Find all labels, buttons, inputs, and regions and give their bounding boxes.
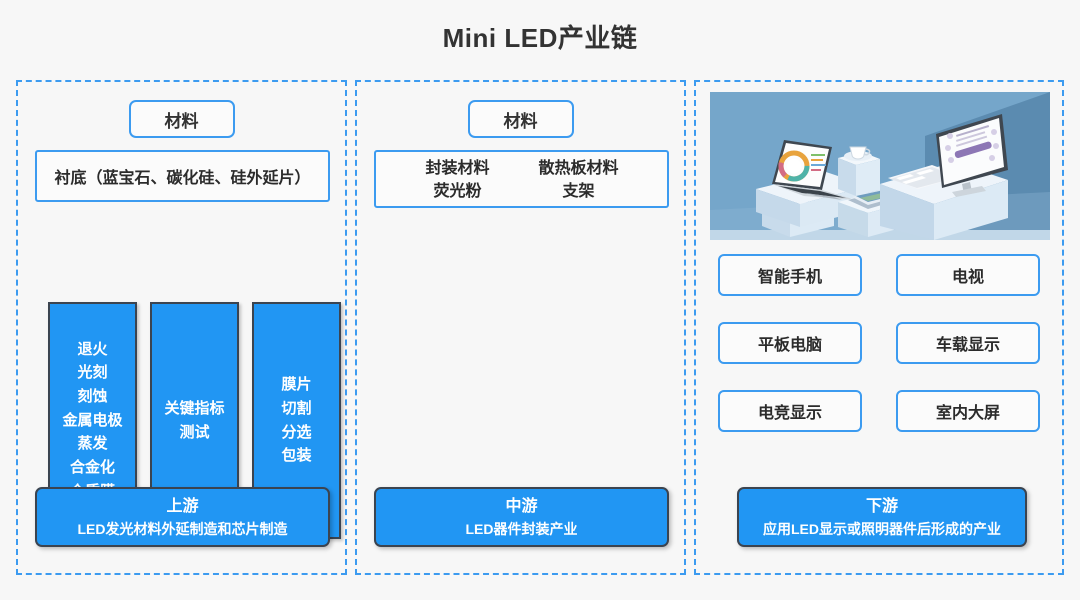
- stage-description: 应用LED显示或照明器件后形成的产业: [763, 519, 1001, 540]
- material-item: 支架: [520, 180, 638, 203]
- app-button-esports[interactable]: 电竞显示: [718, 390, 862, 432]
- app-button-automotive[interactable]: 车载显示: [896, 322, 1040, 364]
- stage-title: 上游: [166, 495, 198, 519]
- material-item: 散热板材料: [520, 157, 638, 180]
- stage-bar-upstream: 上游 LED发光材料外延制造和芯片制造: [35, 487, 330, 547]
- panel-upstream: 材料 衬底（蓝宝石、碳化硅、硅外延片） 退火 光刻 刻蚀 金属电极 蒸发 合金化…: [16, 80, 347, 575]
- material-row: 荧光粉 支架: [406, 180, 638, 203]
- page-title: Mini LED产业链: [0, 18, 1080, 55]
- app-button-tv[interactable]: 电视: [896, 254, 1040, 296]
- workspace-illustration: [710, 92, 1050, 240]
- material-header-midstream: 材料: [468, 100, 574, 138]
- material-box-upstream: 衬底（蓝宝石、碳化硅、硅外延片）: [35, 150, 330, 202]
- stage-bar-midstream: 中游 LED器件封装产业: [374, 487, 669, 547]
- stage-title: 下游: [866, 495, 898, 519]
- panel-midstream: 材料 封装材料 散热板材料 荧光粉 支架 包装 老化 检测目检光学 烘烤 白荧光…: [355, 80, 686, 575]
- app-button-indoor-display[interactable]: 室内大屏: [896, 390, 1040, 432]
- application-grid: 智能手机 电视 平板电脑 车载显示 电竞显示 室内大屏: [718, 254, 1040, 432]
- stage-bar-downstream: 下游 应用LED显示或照明器件后形成的产业: [737, 487, 1027, 547]
- material-item: 封装材料: [406, 157, 510, 180]
- material-header-upstream: 材料: [129, 100, 235, 138]
- app-button-smartphone[interactable]: 智能手机: [718, 254, 862, 296]
- material-row: 封装材料 散热板材料: [406, 157, 638, 180]
- material-item: 荧光粉: [406, 180, 510, 203]
- process-column-label: 关键指标 测试: [164, 397, 224, 444]
- process-column-label: 膜片 切割 分选 包装: [281, 373, 311, 468]
- stage-title: 中游: [505, 495, 537, 519]
- material-box-midstream: 封装材料 散热板材料 荧光粉 支架: [374, 150, 669, 208]
- app-button-tablet[interactable]: 平板电脑: [718, 322, 862, 364]
- stage-description: LED发光材料外延制造和芯片制造: [78, 519, 288, 540]
- panel-downstream: 智能手机 电视 平板电脑 车载显示 电竞显示 室内大屏 下游 应用LED显示或照…: [694, 80, 1064, 575]
- stage-description: LED器件封装产业: [466, 519, 578, 540]
- process-column-label: 退火 光刻 刻蚀 金属电极 蒸发 合金化 介质膜: [62, 338, 122, 504]
